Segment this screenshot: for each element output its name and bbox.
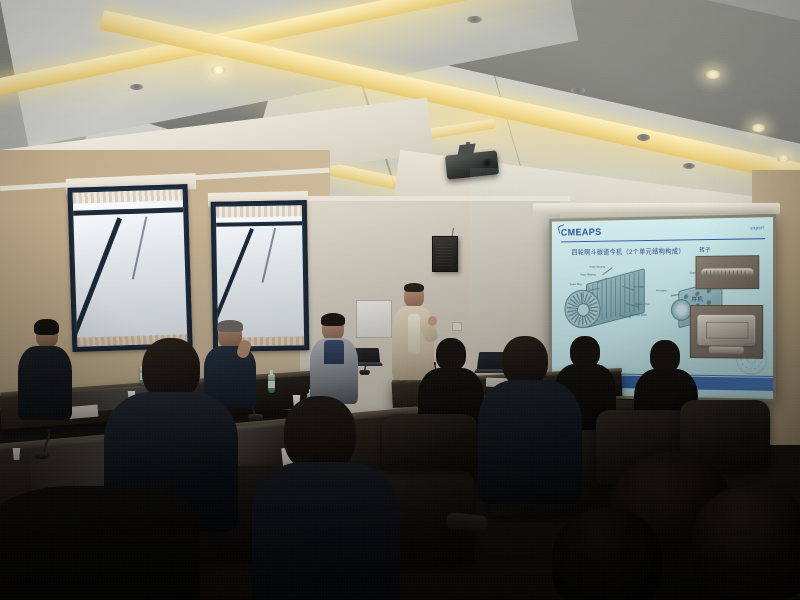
conference-chair[interactable] — [382, 414, 478, 470]
conference-room-photo: CMEAPS export 四轮啊斗碳道今机（2个单元结构构成） Rotor H… — [0, 0, 800, 600]
attendee-suit — [478, 380, 582, 504]
mic-base — [248, 414, 263, 421]
rotor-part — [701, 268, 753, 277]
bottle-label — [268, 381, 275, 388]
wall-speaker — [432, 236, 458, 272]
slide-corner-tag: export — [750, 225, 764, 230]
presenter-hand — [428, 316, 437, 326]
ceiling-downlight — [211, 66, 226, 74]
ceiling-downlight — [130, 84, 143, 90]
callout-label: Rotor Bearing — [581, 273, 596, 276]
attendee-hair — [217, 320, 243, 332]
wall-trim — [300, 196, 570, 201]
window-blind — [216, 205, 302, 217]
attendee-head — [284, 396, 356, 472]
callout-label: Exhaust Port — [635, 303, 649, 306]
attendee-head — [692, 486, 800, 600]
ceiling-downlight — [705, 70, 721, 79]
slide-header-rule — [561, 238, 765, 243]
presenter-shirt — [408, 314, 420, 354]
window-open-sash — [73, 217, 122, 346]
window-blind — [73, 189, 183, 203]
projector-bracket — [457, 144, 475, 157]
mic-base — [359, 370, 370, 375]
window-left — [67, 184, 192, 352]
engine-cutaway-diagram: Rotor Housing Rotor Bearing Spark Plug A… — [563, 264, 658, 340]
window-glass — [73, 189, 188, 346]
window-mullion — [73, 207, 183, 215]
panel-label-rotor: 转子 — [699, 246, 710, 254]
ceiling-downlight — [777, 155, 790, 162]
attendee-head — [552, 508, 662, 600]
callout-label: Rotor Housing — [590, 266, 606, 269]
callout-label: Air Intake — [634, 286, 645, 289]
mic-base — [34, 452, 49, 459]
callout-label: Eccentric Shaft — [630, 314, 647, 317]
ceiling-downlight — [683, 163, 695, 169]
laptop-screen[interactable] — [355, 348, 380, 362]
slide-title: 四轮啊斗碳道今机（2个单元结构构成） — [572, 245, 685, 256]
window-stay-arm — [262, 228, 277, 283]
foreground-shadow-mass — [0, 486, 200, 600]
ceiling-downlight — [751, 124, 766, 132]
panel-label-prototype: 样机 — [692, 295, 703, 303]
logo-text: CMEAPS — [561, 227, 602, 238]
mic-capsule-icon — [47, 429, 51, 433]
rotor-photo — [696, 255, 760, 289]
attendee-head — [142, 338, 200, 400]
ceiling-downlight — [571, 87, 585, 94]
engine-rotor-face — [564, 290, 600, 328]
attendee-suit — [252, 462, 400, 600]
callout-label: Air Intake — [656, 289, 667, 292]
window-stay-arm — [132, 216, 147, 279]
attendee-suit — [18, 346, 72, 420]
wall-outlet — [452, 322, 462, 331]
projector-lens-icon — [481, 158, 493, 169]
chair-armrest — [445, 512, 489, 533]
ceiling-downlight — [467, 16, 482, 23]
attendee-hair — [34, 319, 59, 335]
prototype-casing — [698, 315, 755, 345]
wall-panel — [356, 300, 392, 338]
ceiling-downlight — [637, 134, 650, 141]
callout-label: Spark Plug — [570, 283, 582, 286]
presenter-hair — [404, 283, 424, 292]
screen-roller-case — [533, 203, 780, 214]
attendee-collar — [324, 340, 344, 364]
cmeaps-logo: CMEAPS — [561, 227, 602, 238]
engine-block-face — [671, 299, 692, 321]
water-bottle[interactable] — [268, 374, 275, 393]
attendee-head — [436, 338, 466, 371]
slide-watermark — [736, 343, 767, 375]
window-mullion — [216, 221, 302, 227]
attendee-head — [502, 336, 548, 386]
attendee-hair — [321, 313, 345, 326]
